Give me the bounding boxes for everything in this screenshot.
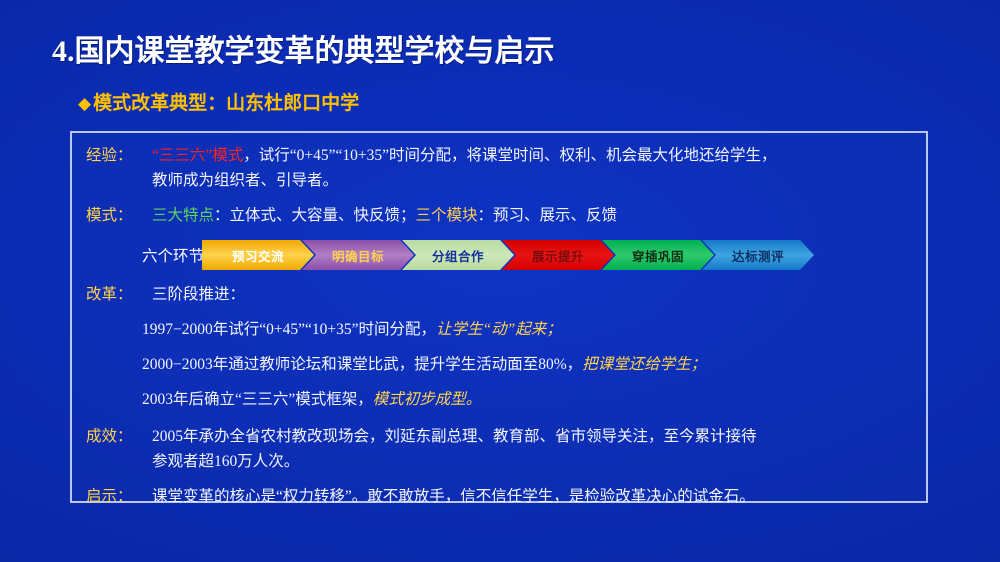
reform-phase-2-main: 2000−2003年通过教师论坛和课堂比武，提升学生活动面至80%， [142, 356, 582, 373]
label-model: 模式： [86, 203, 152, 228]
chevron-step-4[interactable]: 展示提升 [502, 240, 614, 270]
chevron-step-2[interactable]: 明确目标 [302, 240, 414, 270]
label-insight: 启示： [86, 484, 152, 509]
reform-phase-1-accent: 让学生“动”起来； [436, 321, 562, 338]
chevron-step-1[interactable]: 预习交流 [202, 240, 314, 270]
reform-phase-3: 2003年后确立“三三六”模式框架，模式初步成型。 [86, 387, 918, 412]
reform-phase-2: 2000−2003年通过教师论坛和课堂比武，提升学生活动面至80%，把课堂还给学… [86, 352, 918, 377]
reform-phase-1: 1997−2000年试行“0+45”“10+35”时间分配，让学生“动”起来； [86, 317, 918, 342]
row-model: 模式： 三大特点：立体式、大容量、快反馈；三个模块：预习、展示、反馈 [86, 203, 918, 228]
chevron-step-6[interactable]: 达标测评 [702, 240, 814, 270]
subtitle-text: 模式改革典型：山东杜郎口中学 [93, 93, 359, 114]
results-line-1: 2005年承办全省农村教改现场会，刘延东副总理、教育部、省市领导关注，至今累计接… [152, 424, 918, 449]
body-reform: 三阶段推进： [152, 282, 918, 307]
spacer [86, 193, 918, 203]
results-line-2: 参观者超160万人次。 [152, 449, 918, 474]
body-results: 2005年承办全省农村教改现场会，刘延东副总理、教育部、省市领导关注，至今累计接… [152, 424, 918, 474]
chevron-step-5-label: 穿插巩固 [632, 246, 684, 265]
reform-phase-3-accent: 模式初步成型。 [373, 391, 482, 408]
experience-quote-term: “三三六” [152, 147, 212, 164]
chevron-step-4-label: 展示提升 [532, 246, 584, 265]
label-process: 六个环节： [86, 244, 202, 266]
spacer [86, 412, 918, 424]
body-insight: 课堂变革的核心是“权力转移”。敢不敢放手，信不信任学生，是检验改革决心的试金石。 [152, 484, 918, 509]
label-results: 成效： [86, 424, 152, 449]
row-results: 成效： 2005年承办全省农村教改现场会，刘延东副总理、教育部、省市领导关注，至… [86, 424, 918, 474]
chevron-step-2-label: 明确目标 [332, 246, 384, 265]
experience-line-2: 教师成为组织者、引导者。 [152, 168, 918, 193]
row-reform: 改革： 三阶段推进： [86, 282, 918, 307]
chevron-step-6-label: 达标测评 [732, 246, 784, 265]
row-insight: 启示： 课堂变革的核心是“权力转移”。敢不敢放手，信不信任学生，是检验改革决心的… [86, 484, 918, 509]
row-process: 六个环节： 预习交流 明确目标 分组合作 展示提升 穿插巩固 达标测评 [86, 240, 918, 270]
chevron-step-3-label: 分组合作 [432, 246, 484, 265]
page-title: 4.国内课堂教学变革的典型学校与启示 [52, 26, 555, 70]
content-box: 经验： “三三六”模式，试行“0+45”“10+35”时间分配，将课堂时间、权利… [70, 131, 928, 503]
reform-phase-3-main: 2003年后确立“三三六”模式框架， [142, 391, 373, 408]
body-experience: “三三六”模式，试行“0+45”“10+35”时间分配，将课堂时间、权利、机会最… [152, 143, 918, 193]
model-features-detail: ：立体式、大容量、快反馈； [214, 207, 416, 224]
slide-canvas: 4.国内课堂教学变革的典型学校与启示 ◆模式改革典型：山东杜郎口中学 经验： “… [0, 0, 1000, 562]
model-three-features: 三大特点 [152, 207, 214, 224]
spacer [86, 474, 918, 484]
spacer [86, 307, 918, 317]
spacer [86, 377, 918, 387]
experience-line-1: “三三六”模式，试行“0+45”“10+35”时间分配，将课堂时间、权利、机会最… [152, 143, 918, 168]
model-line: 三大特点：立体式、大容量、快反馈；三个模块：预习、展示、反馈 [152, 203, 918, 228]
experience-mode-word: 模式 [212, 147, 243, 164]
chevron-step-3[interactable]: 分组合作 [402, 240, 514, 270]
model-three-modules: 三个模块 [416, 207, 478, 224]
process-chevron-bar: 预习交流 明确目标 分组合作 展示提升 穿插巩固 达标测评 [202, 240, 814, 270]
row-experience: 经验： “三三六”模式，试行“0+45”“10+35”时间分配，将课堂时间、权利… [86, 143, 918, 193]
diamond-bullet-icon: ◆ [78, 94, 91, 113]
insight-line-1: 课堂变革的核心是“权力转移”。敢不敢放手，信不信任学生，是检验改革决心的试金石。 [152, 484, 918, 509]
reform-phase-1-main: 1997−2000年试行“0+45”“10+35”时间分配， [142, 321, 436, 338]
chevron-step-1-label: 预习交流 [232, 246, 284, 265]
reform-intro: 三阶段推进： [152, 282, 918, 307]
section-subtitle: ◆模式改革典型：山东杜郎口中学 [78, 88, 359, 115]
body-model: 三大特点：立体式、大容量、快反馈；三个模块：预习、展示、反馈 [152, 203, 918, 228]
label-reform: 改革： [86, 282, 152, 307]
chevron-step-5[interactable]: 穿插巩固 [602, 240, 714, 270]
reform-phase-2-accent: 把课堂还给学生； [582, 356, 706, 373]
spacer [86, 270, 918, 282]
label-experience: 经验： [86, 143, 152, 168]
content-rows: 经验： “三三六”模式，试行“0+45”“10+35”时间分配，将课堂时间、权利… [72, 133, 926, 501]
spacer [86, 342, 918, 352]
spacer [86, 228, 918, 240]
model-modules-detail: ：预习、展示、反馈 [478, 207, 618, 224]
experience-rest: ，试行“0+45”“10+35”时间分配，将课堂时间、权利、机会最大化地还给学生… [243, 147, 776, 164]
